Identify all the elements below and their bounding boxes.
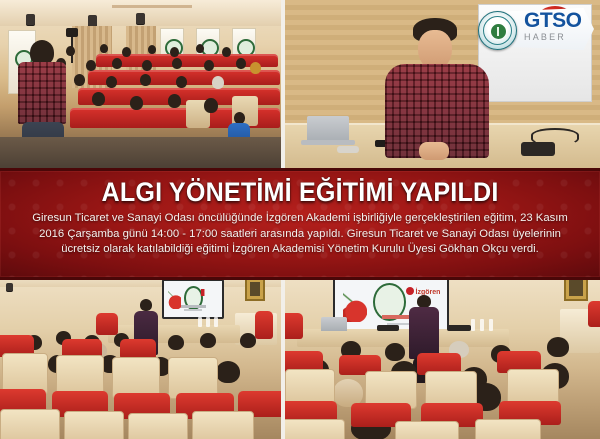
ceiling-speaker-icon bbox=[136, 13, 145, 24]
seat-back bbox=[192, 411, 254, 439]
audience-person bbox=[172, 58, 182, 69]
water-bottle bbox=[480, 319, 484, 331]
audience-person bbox=[106, 76, 117, 88]
ceiling-speaker-icon bbox=[88, 15, 97, 26]
photo-bottom-left bbox=[0, 271, 281, 439]
camera-icon bbox=[66, 28, 78, 37]
audience-person bbox=[196, 44, 204, 53]
audience-person bbox=[204, 60, 214, 71]
logo-subtitle: HABER bbox=[524, 32, 582, 43]
audience-person bbox=[66, 46, 75, 56]
audience-person bbox=[122, 47, 131, 57]
audience-person bbox=[212, 76, 224, 89]
water-bottle bbox=[206, 317, 210, 327]
gtso-chamber-emblem-icon bbox=[478, 11, 517, 50]
izgoren-mark-icon bbox=[406, 287, 414, 295]
audience-person bbox=[140, 74, 151, 86]
presenter-shirt bbox=[18, 62, 66, 124]
mouse-icon bbox=[337, 146, 359, 153]
water-bottle bbox=[489, 319, 493, 331]
audience-person bbox=[142, 60, 152, 71]
ceiling-speaker-icon bbox=[26, 14, 35, 25]
body-line: ücretsiz olarak katılabildiği eğitimi İz… bbox=[11, 242, 589, 258]
av-equipment bbox=[377, 325, 399, 331]
wall-portrait bbox=[245, 277, 265, 301]
photo-top-left bbox=[0, 0, 281, 171]
audience-person bbox=[547, 337, 569, 357]
gtso-haber-logo: GTSO HABER bbox=[478, 8, 594, 53]
audience-person bbox=[86, 60, 96, 71]
ceiling-speaker-icon bbox=[6, 283, 13, 291]
cherry-logo-icon bbox=[343, 285, 368, 322]
headline-title: ALGI YÖNETİMİ EĞİTİMİ YAPILDI bbox=[26, 177, 575, 207]
screen-text-line bbox=[184, 309, 203, 311]
audience-person bbox=[236, 58, 246, 69]
presenter-shirt bbox=[409, 307, 439, 359]
projection-screen bbox=[162, 279, 224, 319]
cherry-logo-icon bbox=[168, 287, 181, 309]
seat-back bbox=[395, 421, 459, 439]
audience-person bbox=[148, 45, 156, 54]
logo-text: GTSO HABER bbox=[524, 11, 582, 43]
screen-text-line bbox=[181, 305, 205, 308]
audience-person bbox=[74, 74, 85, 86]
audience-person bbox=[250, 62, 261, 74]
news-image-collage: GTSO HABER ALGI YÖNETİMİ EĞİTİMİ YAPILDI… bbox=[0, 0, 600, 439]
laptop-base bbox=[301, 140, 355, 145]
audience-person bbox=[168, 335, 184, 350]
audience-person bbox=[240, 333, 256, 348]
panel-divider bbox=[281, 0, 285, 171]
water-bottle bbox=[214, 317, 218, 327]
seat-back bbox=[475, 419, 541, 439]
audience-person bbox=[92, 92, 105, 106]
audience-person bbox=[100, 44, 108, 53]
audience-person bbox=[176, 76, 187, 88]
izgoren-logo-on-screen bbox=[201, 289, 220, 296]
seat-back bbox=[0, 409, 60, 439]
audience-person bbox=[112, 58, 122, 69]
head-table bbox=[297, 329, 509, 347]
av-equipment bbox=[447, 325, 471, 331]
presenter-head bbox=[140, 299, 152, 311]
emblem-core bbox=[491, 24, 506, 39]
audience-person bbox=[204, 98, 218, 113]
seat bbox=[120, 339, 156, 359]
logo-name: GTSO bbox=[524, 11, 582, 31]
body-line: 2016 Çarşamba günü 14:00 - 17:00 saatler… bbox=[11, 227, 589, 243]
cable-coil bbox=[531, 128, 579, 146]
body-line: Giresun Ticaret ve Sanayi Odası öncülüğü… bbox=[11, 211, 589, 227]
photo-bottom-right: İzgören bbox=[285, 271, 600, 439]
seat-back bbox=[285, 419, 345, 439]
floor bbox=[0, 137, 281, 171]
laptop-screen bbox=[321, 317, 347, 331]
audience-person bbox=[170, 47, 179, 57]
banner-content: ALGI YÖNETİMİ EĞİTİMİ YAPILDI Giresun Ti… bbox=[5, 175, 595, 273]
seat-back bbox=[128, 413, 188, 439]
audience-person bbox=[222, 47, 231, 57]
speaker-hands bbox=[419, 142, 449, 160]
headline-banner: ALGI YÖNETİMİ EĞİTİMİ YAPILDI Giresun Ti… bbox=[0, 168, 600, 280]
seat-back bbox=[64, 411, 124, 439]
ceiling-trim bbox=[112, 5, 192, 8]
laptop-screen bbox=[307, 116, 349, 142]
audience-person bbox=[130, 96, 143, 110]
water-bottle bbox=[471, 319, 475, 331]
seat bbox=[285, 313, 303, 339]
audience-person bbox=[385, 343, 405, 361]
water-bottle bbox=[198, 317, 202, 327]
audience-person bbox=[216, 361, 240, 383]
seat bbox=[255, 311, 273, 339]
headline-body: Giresun Ticaret ve Sanayi Odası öncülüğü… bbox=[5, 211, 595, 258]
audience-person bbox=[168, 94, 181, 108]
seat bbox=[96, 313, 118, 335]
seat bbox=[588, 301, 600, 327]
audience-person bbox=[200, 333, 216, 348]
